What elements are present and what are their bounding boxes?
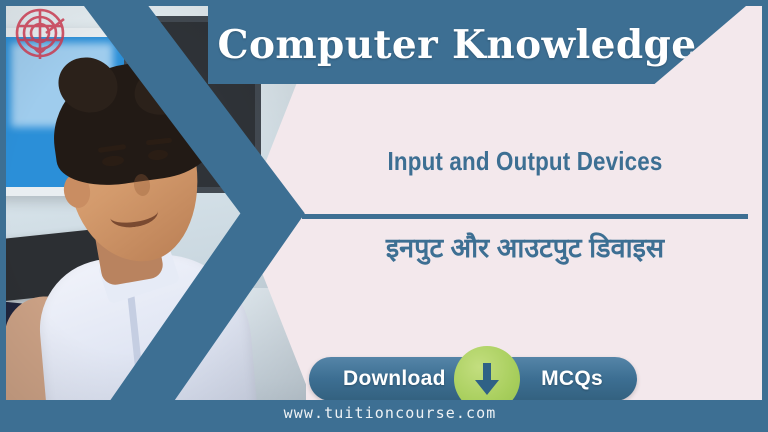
- title-banner: Computer Knowledge: [208, 6, 746, 84]
- brand-monogram-logo: [10, 7, 72, 65]
- mcqs-button-label: MCQs: [541, 367, 603, 391]
- website-url: www.tuitioncourse.com: [284, 404, 497, 422]
- download-button-label: Download: [343, 367, 446, 391]
- download-arrow-icon: [472, 362, 502, 396]
- poster-root: Computer Knowledge Input and Output Devi…: [0, 0, 768, 432]
- footer-bar: www.tuitioncourse.com: [6, 400, 768, 426]
- page-title: Computer Knowledge: [218, 22, 697, 68]
- subtitle-english: Input and Output Devices: [333, 146, 717, 177]
- subtitle-divider-rule: [302, 214, 748, 219]
- subtitle-hindi: इनपुट और आउटपुट डिवाइस: [302, 232, 748, 266]
